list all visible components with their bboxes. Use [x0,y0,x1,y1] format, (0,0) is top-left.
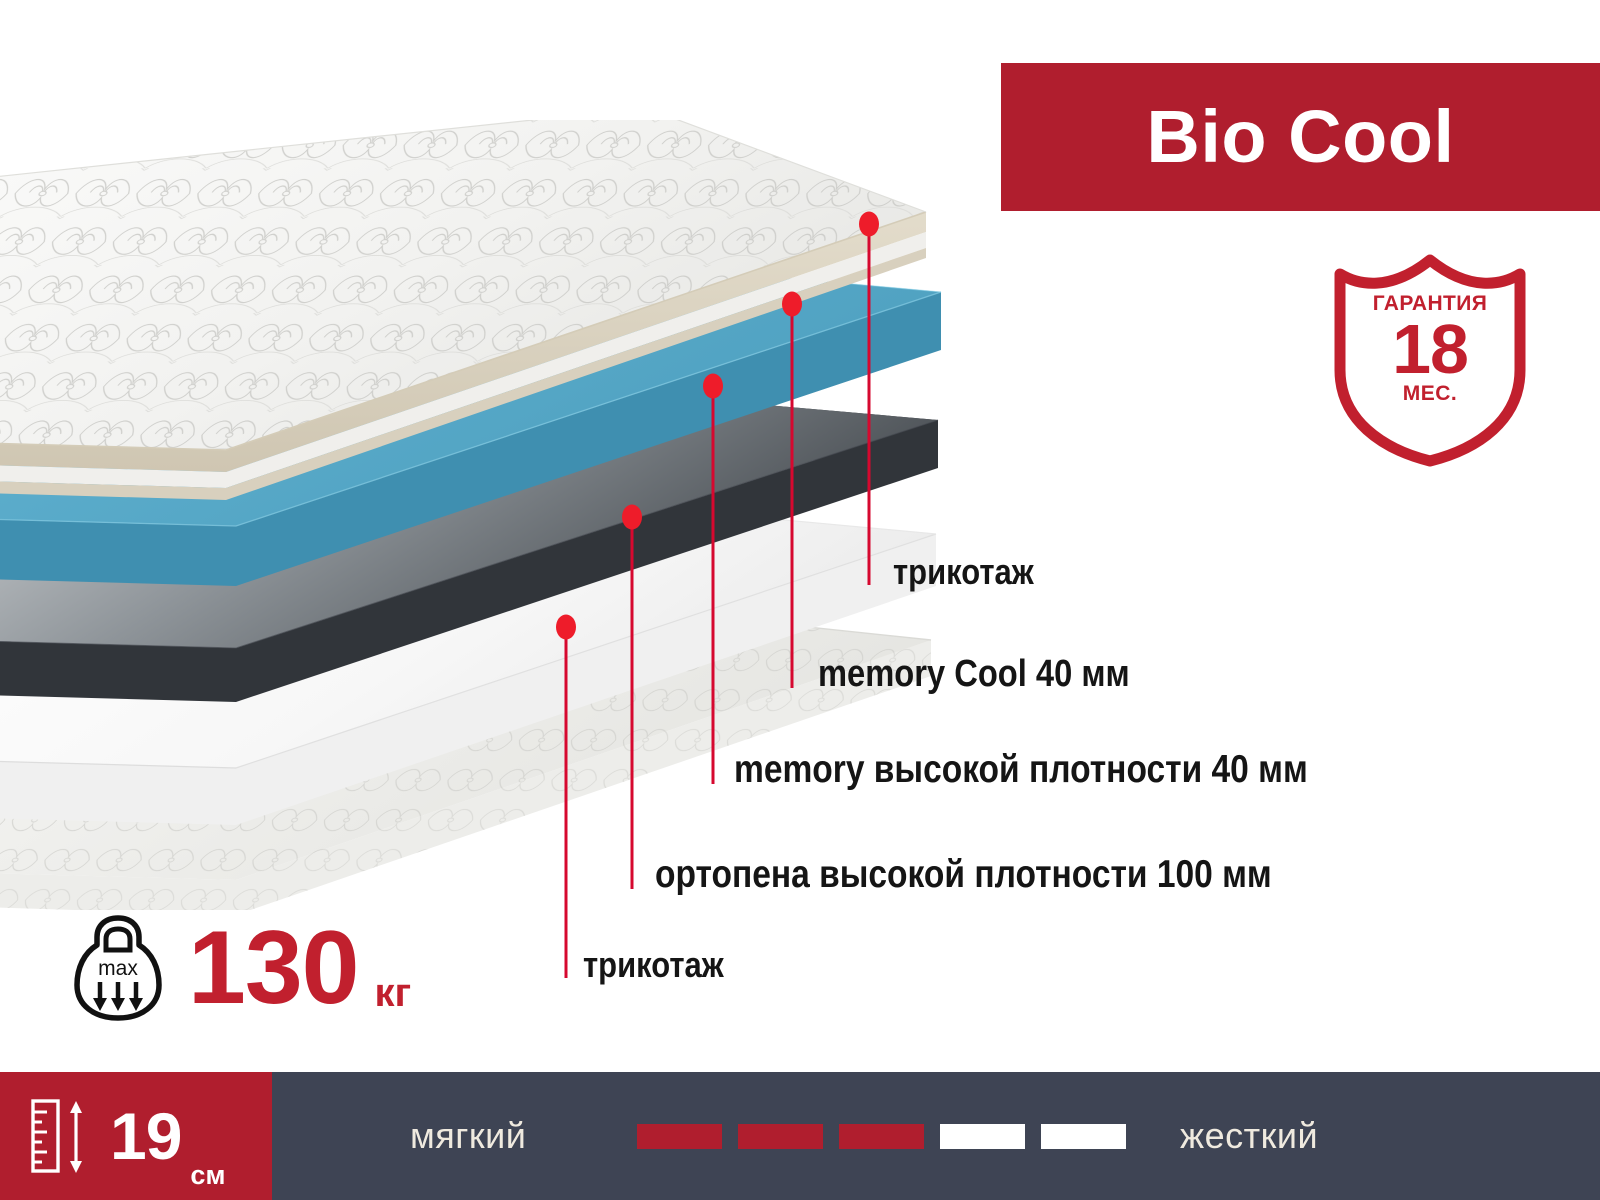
firmness-segment-1[interactable] [637,1124,722,1149]
page-title: Bio Cool [1146,100,1454,174]
warranty-months: 18 [1330,314,1530,384]
firmness-scale[interactable] [637,1124,1126,1149]
ruler-icon [28,1095,96,1177]
kettlebell-icon: max [72,912,164,1024]
firmness-segment-5[interactable] [1041,1124,1126,1149]
height-unit: см [190,1160,225,1200]
firmness-soft-label: мягкий [410,1115,526,1157]
product-title-banner: Bio Cool [1001,63,1600,211]
firmness-block: мягкий жесткий [272,1072,1600,1200]
height-block: 19 см [0,1072,272,1200]
firmness-segment-4[interactable] [940,1124,1025,1149]
firmness-firm-label: жесткий [1180,1115,1318,1157]
firmness-segment-2[interactable] [738,1124,823,1149]
callout-label-ortopena: ортопена высокой плотности 100 мм [655,853,1272,897]
warranty-unit-label: МЕС. [1330,382,1530,406]
callout-label-knit-top: трикотаж [893,551,1034,593]
max-weight-block: max 130 кг [72,912,411,1024]
max-weight-value: 130 [188,916,359,1020]
max-weight-unit: кг [375,971,412,1024]
callout-label-memory-dense: memory высокой плотности 40 мм [734,748,1308,792]
callout-label-memory-cool: memory Cool 40 мм [818,653,1130,696]
height-value: 19 [110,1103,181,1169]
svg-text:max: max [98,957,138,980]
bottom-spec-bar: 19 см мягкий жесткий [0,1072,1600,1200]
callout-label-knit-bottom: трикотаж [583,944,724,986]
warranty-badge: ГАРАНТИЯ 18 МЕС. [1330,252,1530,467]
firmness-segment-3[interactable] [839,1124,924,1149]
